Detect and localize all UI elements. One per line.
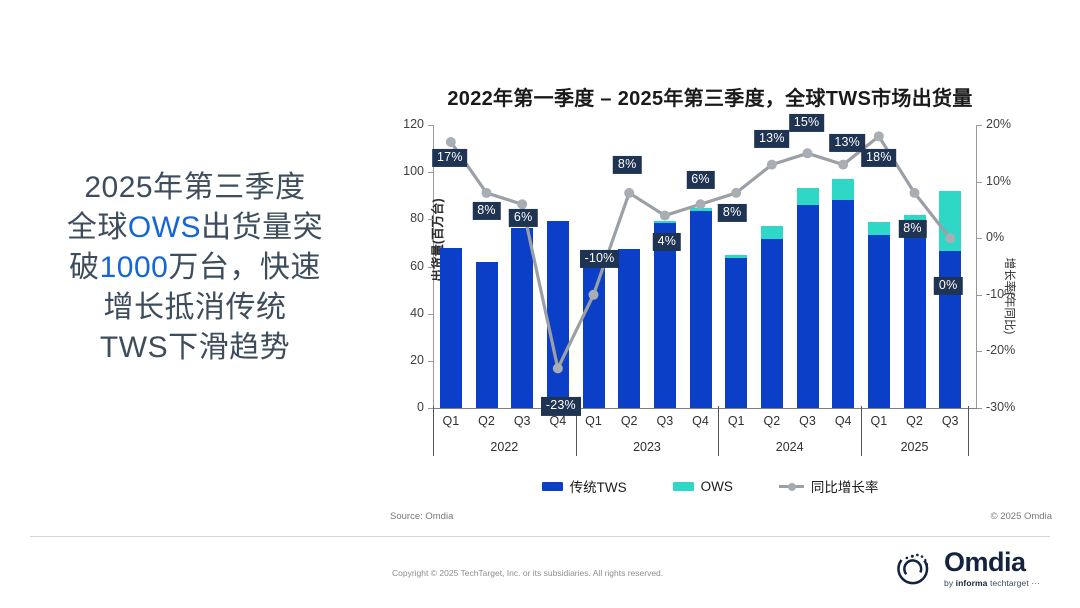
y-tick-label-right: -10% bbox=[986, 287, 1015, 301]
growth-data-label: 13% bbox=[754, 130, 790, 148]
growth-data-label: 18% bbox=[861, 149, 897, 167]
y-tick-label-right: 20% bbox=[986, 117, 1011, 131]
year-separator bbox=[968, 406, 969, 456]
x-axis-quarter-label: Q2 bbox=[470, 414, 504, 428]
headline-line-5: TWS下滑趋势 bbox=[30, 328, 360, 368]
growth-line-marker[interactable] bbox=[767, 160, 777, 170]
y-tick-label-left: 80 bbox=[384, 211, 424, 225]
x-axis-quarter-label: Q3 bbox=[791, 414, 825, 428]
legend-item[interactable]: 传统TWS bbox=[542, 476, 627, 496]
legend-line-marker-icon bbox=[779, 482, 804, 491]
legend-swatch bbox=[673, 482, 694, 491]
x-axis-quarter-label: Q1 bbox=[434, 414, 468, 428]
growth-line-marker[interactable] bbox=[838, 160, 848, 170]
year-separator bbox=[433, 406, 434, 456]
x-axis-year-label: 2022 bbox=[433, 440, 576, 454]
growth-data-label: 6% bbox=[686, 171, 714, 189]
legend-label: 传统TWS bbox=[570, 476, 627, 496]
x-axis-year-label: 2024 bbox=[718, 440, 861, 454]
growth-line-marker[interactable] bbox=[553, 363, 563, 373]
growth-data-label: 8% bbox=[718, 204, 746, 222]
plot-area bbox=[433, 125, 968, 408]
y-tick-label-right: -20% bbox=[986, 343, 1015, 357]
omdia-logo: Omdia by informa techtarget ··· bbox=[893, 547, 1040, 589]
y-tick-label-left: 20 bbox=[384, 353, 424, 367]
growth-data-label: 8% bbox=[898, 220, 926, 238]
x-axis-quarter-label: Q3 bbox=[933, 414, 967, 428]
growth-line-marker[interactable] bbox=[731, 188, 741, 198]
y-tick-label-left: 40 bbox=[384, 306, 424, 320]
y-tick-label-left: 0 bbox=[384, 400, 424, 414]
headline-line-4: 增长抵消传统 bbox=[30, 288, 360, 328]
y-tick-label-left: 60 bbox=[384, 259, 424, 273]
legend-item[interactable]: 同比增长率 bbox=[779, 476, 879, 496]
headline-line-2: 全球OWS出货量突 bbox=[30, 208, 360, 248]
x-axis-quarter-label: Q4 bbox=[684, 414, 718, 428]
growth-line-marker[interactable] bbox=[803, 148, 813, 158]
x-axis-quarter-label: Q2 bbox=[898, 414, 932, 428]
y-tick-label-left: 100 bbox=[384, 164, 424, 178]
x-axis-quarter-label: Q2 bbox=[755, 414, 789, 428]
year-separator bbox=[718, 406, 719, 456]
growth-line-marker[interactable] bbox=[910, 188, 920, 198]
legend-label: OWS bbox=[701, 479, 733, 494]
growth-data-label: -23% bbox=[541, 397, 581, 415]
y-tick-right bbox=[977, 182, 982, 183]
growth-data-label: 0% bbox=[934, 277, 962, 295]
y-tick-right bbox=[977, 408, 982, 409]
growth-line-marker[interactable] bbox=[945, 233, 955, 243]
legend-swatch bbox=[542, 482, 563, 491]
headline-line-1-text: 2025年第三季度 bbox=[84, 171, 305, 204]
growth-line-marker[interactable] bbox=[589, 290, 599, 300]
y-tick-right bbox=[977, 125, 982, 126]
x-axis-year-label: 2023 bbox=[576, 440, 719, 454]
growth-line-marker[interactable] bbox=[517, 199, 527, 209]
growth-data-label: 6% bbox=[509, 209, 537, 227]
omdia-logo-name: Omdia bbox=[944, 549, 1040, 576]
omdia-logo-tagline: by informa techtarget ··· bbox=[944, 579, 1040, 588]
growth-line-marker[interactable] bbox=[446, 137, 456, 147]
growth-data-label: 8% bbox=[613, 156, 641, 174]
chart-legend: 传统TWSOWS同比增长率 bbox=[390, 476, 1030, 496]
y-tick-right bbox=[977, 238, 982, 239]
source-note: Source: Omdia bbox=[390, 511, 453, 522]
omdia-copyright: © 2025 Omdia bbox=[991, 511, 1052, 522]
x-axis-line bbox=[433, 408, 977, 409]
y-tick-label-left: 120 bbox=[384, 117, 424, 131]
x-axis-quarter-label: Q4 bbox=[826, 414, 860, 428]
y-axis-right-line bbox=[976, 125, 977, 409]
x-axis-quarter-label: Q1 bbox=[862, 414, 896, 428]
y-tick-right bbox=[977, 295, 982, 296]
growth-data-label: 13% bbox=[829, 134, 865, 152]
headline-accent-ows: OWS bbox=[128, 211, 201, 244]
x-axis-quarter-label: Q3 bbox=[505, 414, 539, 428]
growth-data-label: 4% bbox=[653, 232, 681, 250]
chart-title: 2022年第一季度 – 2025年第三季度，全球TWS市场出货量 bbox=[390, 82, 1030, 111]
headline-accent-1000: 1000 bbox=[100, 251, 169, 284]
footer-divider bbox=[30, 536, 1050, 537]
growth-data-label: 15% bbox=[789, 114, 825, 132]
x-axis-year-label: 2025 bbox=[861, 440, 968, 454]
growth-data-label: -10% bbox=[580, 250, 620, 268]
omdia-logo-mark bbox=[893, 547, 935, 589]
x-axis-quarter-label: Q3 bbox=[648, 414, 682, 428]
legend-item[interactable]: OWS bbox=[673, 479, 733, 494]
growth-line-marker[interactable] bbox=[696, 199, 706, 209]
y-tick-label-right: 10% bbox=[986, 174, 1011, 188]
growth-line-series bbox=[433, 125, 968, 408]
growth-data-label: 8% bbox=[472, 202, 500, 220]
year-separator bbox=[861, 406, 862, 456]
y-tick-label-right: 0% bbox=[986, 230, 1004, 244]
chart-container: 出货量(百万台) 增长率(年同比) Q1Q2Q3Q4Q1Q2Q3Q4Q1Q2Q3… bbox=[390, 118, 1030, 468]
x-axis-quarter-label: Q2 bbox=[612, 414, 646, 428]
legend-label: 同比增长率 bbox=[811, 476, 879, 496]
growth-line-marker[interactable] bbox=[660, 211, 670, 221]
headline-text: 2025年第三季度 全球OWS出货量突 破1000万台，快速 增长抵消传统 TW… bbox=[30, 168, 360, 367]
x-axis-quarter-label: Q4 bbox=[541, 414, 575, 428]
growth-line-marker[interactable] bbox=[482, 188, 492, 198]
techtarget-copyright: Copyright © 2025 TechTarget, Inc. or its… bbox=[392, 568, 663, 578]
growth-data-label: 17% bbox=[432, 149, 468, 167]
slide-canvas: 2025年第三季度 全球OWS出货量突 破1000万台，快速 增长抵消传统 TW… bbox=[0, 0, 1080, 608]
headline-line-3: 破1000万台，快速 bbox=[30, 248, 360, 288]
growth-line-marker[interactable] bbox=[624, 188, 634, 198]
growth-line-marker[interactable] bbox=[874, 131, 884, 141]
y-tick-right bbox=[977, 351, 982, 352]
x-axis-quarter-label: Q1 bbox=[719, 414, 753, 428]
x-axis-quarter-label: Q1 bbox=[577, 414, 611, 428]
y-tick-label-right: -30% bbox=[986, 400, 1015, 414]
headline-line-1: 2025年第三季度 bbox=[30, 168, 360, 208]
omdia-logo-wordmark: Omdia by informa techtarget ··· bbox=[944, 549, 1040, 588]
